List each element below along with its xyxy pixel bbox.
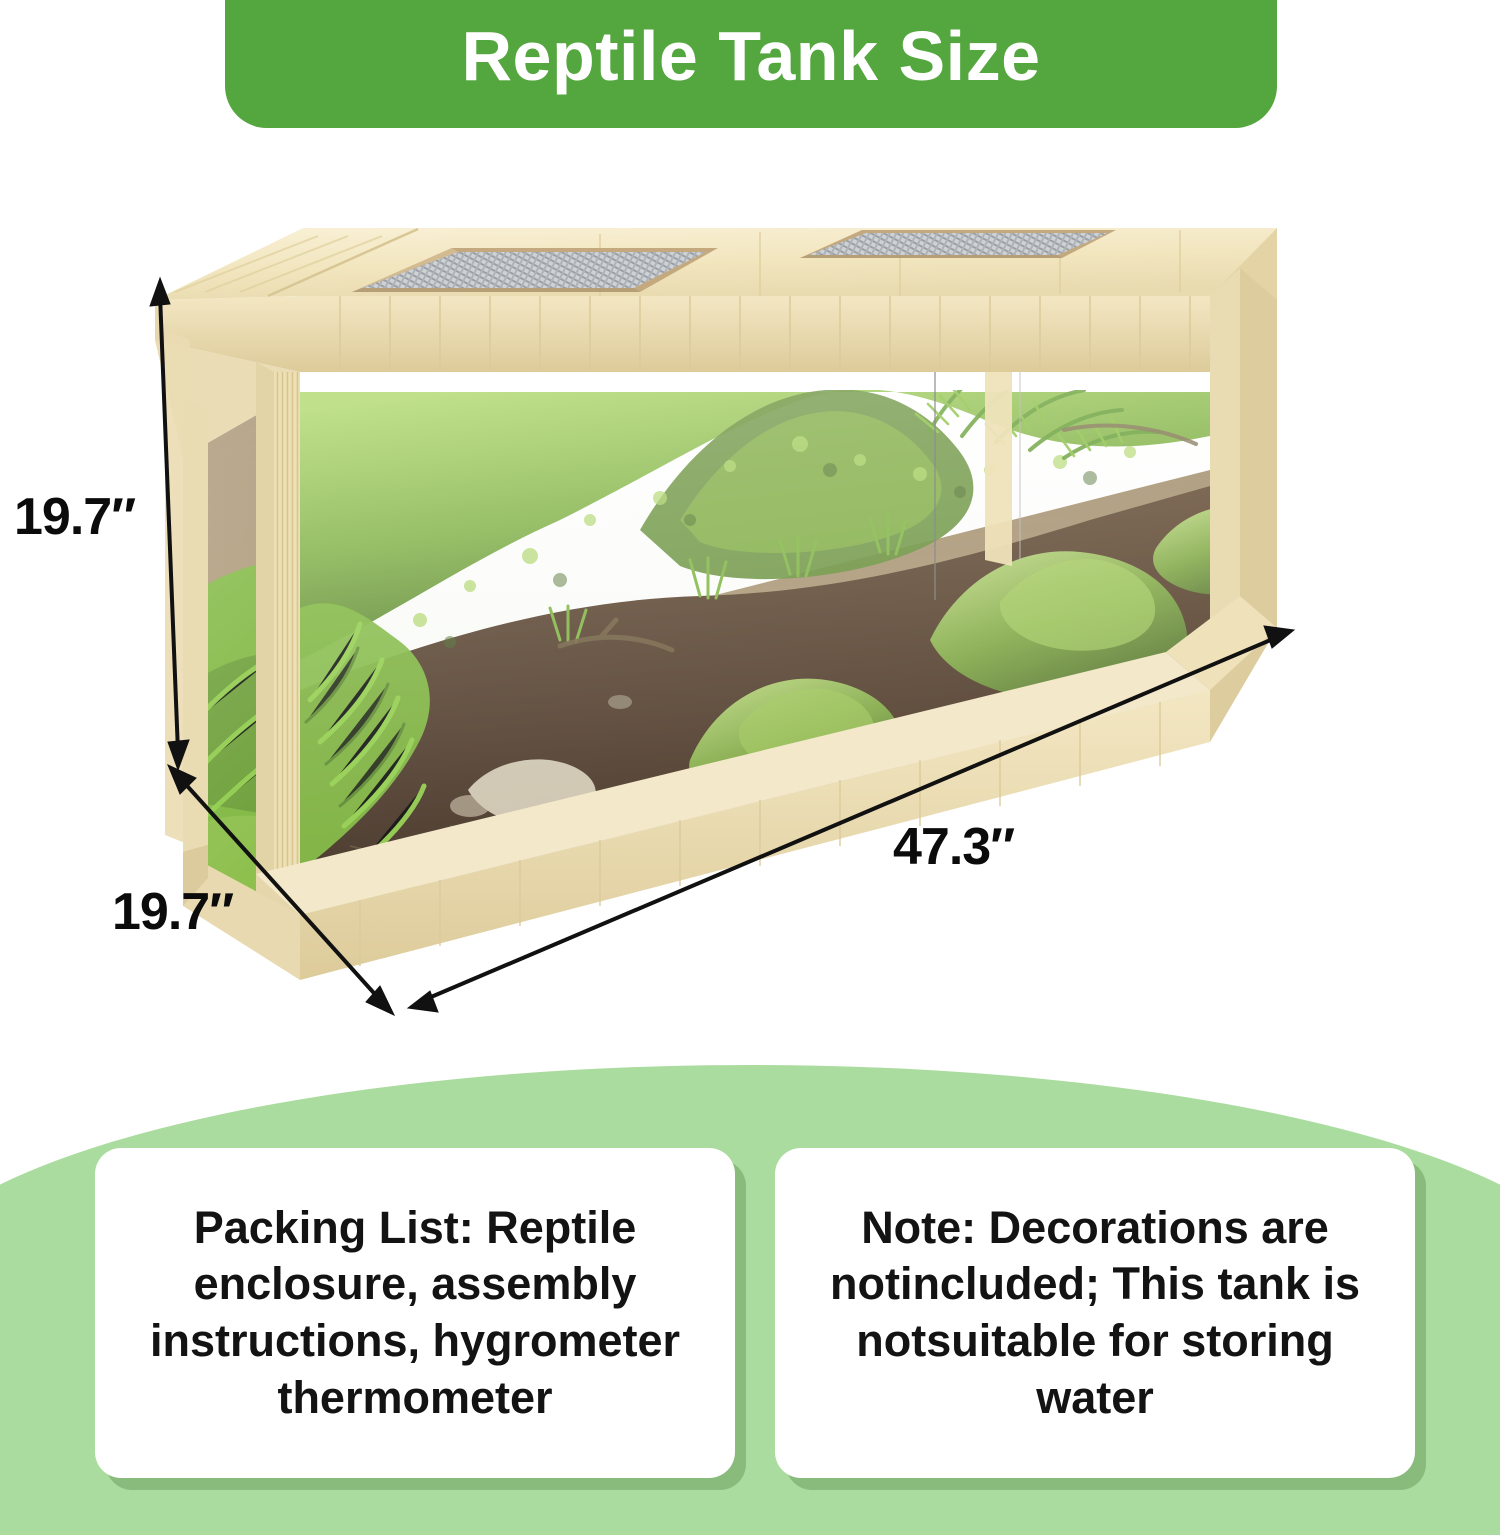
packing-list-text: Packing List: Reptile enclosure, assembl… xyxy=(119,1200,711,1427)
depth-dimension-label: 19.7″ xyxy=(112,882,233,942)
note-card: Note: Decorations are notincluded; This … xyxy=(775,1148,1415,1478)
width-dimension-label: 47.3″ xyxy=(893,817,1014,877)
infographic-canvas: Reptile Tank Size xyxy=(0,0,1500,1500)
height-dimension-label: 19.7″ xyxy=(14,487,135,547)
note-text: Note: Decorations are notincluded; This … xyxy=(799,1200,1391,1427)
packing-list-card: Packing List: Reptile enclosure, assembl… xyxy=(95,1148,735,1478)
